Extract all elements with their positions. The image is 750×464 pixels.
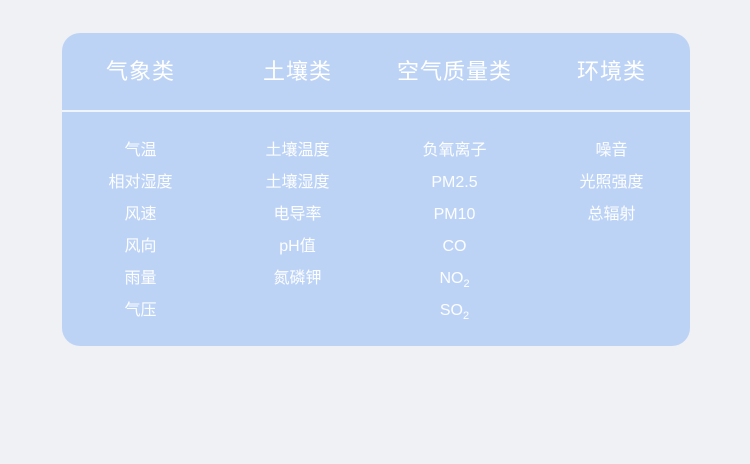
page-root: 气象类 土壤类 空气质量类 环境类 气温 相对湿度 风速 风向 雨量 气压 土壤… — [0, 0, 750, 464]
category-header-row: 气象类 土壤类 空气质量类 环境类 — [62, 33, 690, 110]
list-item: NO2 — [439, 263, 469, 295]
list-item: pH值 — [279, 231, 315, 263]
list-item: PM2.5 — [431, 167, 477, 199]
category-body-grid: 气温 相对湿度 风速 风向 雨量 气压 土壤温度 土壤湿度 电导率 pH值 氮磷… — [62, 112, 690, 327]
list-item: 气温 — [124, 135, 156, 167]
list-item: PM10 — [434, 199, 476, 231]
category-column-soil: 土壤温度 土壤湿度 电导率 pH值 氮磷钾 — [219, 135, 376, 327]
list-item: 雨量 — [124, 263, 156, 295]
list-item: 气压 — [124, 295, 156, 327]
list-item: 电导率 — [273, 199, 321, 231]
list-item: 相对湿度 — [108, 167, 172, 199]
list-item: 噪音 — [595, 135, 627, 167]
category-column-air-quality: 负氧离子 PM2.5 PM10 CO NO2 SO2 — [376, 135, 533, 327]
sensor-category-card: 气象类 土壤类 空气质量类 环境类 气温 相对湿度 风速 风向 雨量 气压 土壤… — [62, 33, 690, 346]
list-item: 负氧离子 — [422, 135, 486, 167]
list-item: 总辐射 — [587, 199, 635, 231]
list-item: CO — [443, 231, 467, 263]
list-item: 风向 — [124, 231, 156, 263]
category-header-soil: 土壤类 — [219, 61, 376, 83]
category-header-environment: 环境类 — [533, 61, 690, 83]
category-column-meteorology: 气温 相对湿度 风速 风向 雨量 气压 — [62, 135, 219, 327]
list-item: 光照强度 — [579, 167, 643, 199]
category-header-meteorology: 气象类 — [62, 61, 219, 83]
list-item: 土壤湿度 — [265, 167, 329, 199]
list-item: 土壤温度 — [265, 135, 329, 167]
list-item: 氮磷钾 — [273, 263, 321, 295]
category-column-environment: 噪音 光照强度 总辐射 — [533, 135, 690, 327]
list-item: 风速 — [124, 199, 156, 231]
category-header-air-quality: 空气质量类 — [376, 61, 533, 83]
header-divider — [62, 110, 690, 112]
list-item: SO2 — [440, 295, 469, 327]
